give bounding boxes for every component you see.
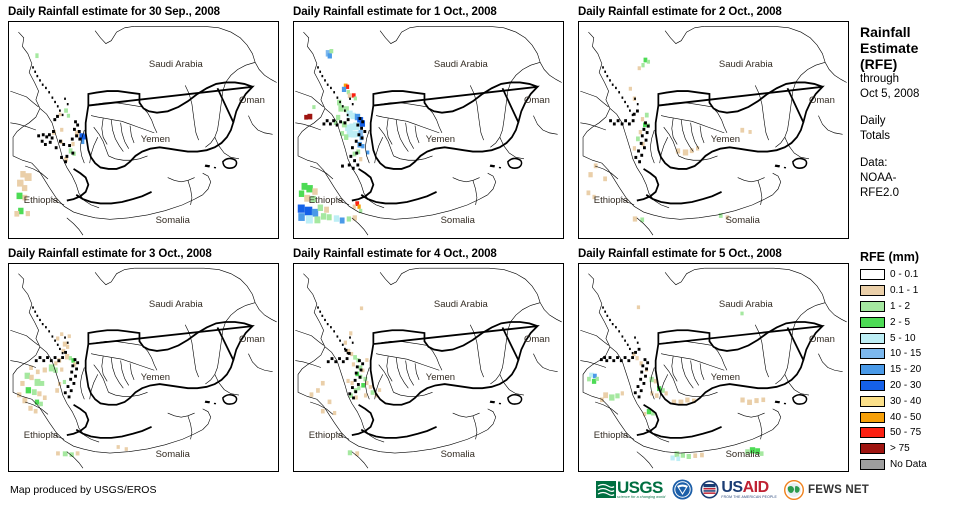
rainfall-cell (344, 341, 347, 345)
rainfall-cell (32, 389, 37, 395)
coastline-speckle (59, 109, 61, 111)
country-label-somalia: Somalia (441, 449, 475, 460)
boundary-line (111, 120, 123, 152)
national-border (502, 88, 518, 123)
coastline-speckle (629, 348, 631, 350)
rainfall-cell (655, 393, 659, 398)
boundary-line (679, 392, 718, 396)
rainfall-cell-dense (327, 360, 330, 363)
boundary-line (818, 354, 842, 372)
boundary-line (637, 218, 653, 235)
rainfall-cell (761, 398, 765, 403)
rainfall-cell (670, 455, 674, 460)
legend-swatch (860, 427, 885, 438)
boundary-line (453, 413, 480, 417)
usaid-tagline: FROM THE AMERICAN PEOPLE (721, 495, 777, 499)
info-column: Rainfall Estimate (RFE) through Oct 5, 2… (860, 24, 965, 201)
rainfall-cell-dense (351, 146, 354, 149)
rainfall-cell (334, 215, 339, 221)
country-label-yemen: Yemen (426, 134, 455, 145)
rainfall-cell (346, 379, 349, 383)
islet (775, 401, 780, 404)
islet (499, 403, 501, 405)
rainfall-cell (299, 190, 304, 196)
coastline-speckle (352, 342, 354, 344)
national-border (658, 82, 822, 112)
rainfall-cell (361, 383, 365, 388)
rainfall-cell (644, 58, 648, 63)
boundary-line (540, 303, 562, 322)
rainfall-cell (357, 386, 360, 390)
rainfall-cell-dense (357, 383, 360, 386)
legend-row: No Data (860, 457, 965, 473)
boundary-line (773, 173, 781, 195)
info-data-label: Data: (860, 156, 965, 171)
coastline-speckle (321, 315, 323, 317)
coastline-speckle (627, 105, 629, 107)
map-panel-title: Daily Rainfall estimate for 4 Oct., 2008 (293, 248, 564, 261)
legend-label: 20 - 30 (890, 380, 921, 391)
rainfall-cell (636, 136, 640, 141)
rainfall-cell-dense (358, 359, 361, 362)
rainfall-cell (588, 172, 592, 177)
rainfall-cell (747, 400, 752, 405)
rainfall-cell (596, 377, 599, 381)
legend: RFE (mm) 0 - 0.10.1 - 11 - 22 - 55 - 101… (860, 250, 965, 472)
coastline-speckle (42, 323, 44, 325)
coastline-speckle (39, 79, 41, 81)
boundary-line (67, 452, 83, 469)
map-canvas[interactable]: Saudi ArabiaOmanYemenEthiopiaSomalia (293, 263, 564, 472)
rainfall-cell-dense (76, 361, 79, 364)
boundary-line (134, 26, 255, 62)
logo-strip: USGS science for a changing world USAID … (596, 479, 869, 500)
boundary-line (488, 173, 496, 195)
coastline-speckle (342, 105, 344, 107)
coastline-speckle (36, 315, 38, 317)
coastline-speckle (627, 344, 629, 346)
rainfall-cell (43, 395, 47, 400)
rainfall-cell-dense (355, 140, 358, 143)
rainfall-cell-dense (323, 122, 326, 125)
rainfall-cell (64, 108, 68, 112)
coastline-speckle (622, 335, 624, 337)
socotra-island (508, 158, 522, 168)
coastline-speckle (606, 75, 608, 77)
legend-swatch (860, 285, 885, 296)
fews-globe-icon (784, 480, 804, 500)
country-label-ethiopia: Ethiopia (594, 430, 628, 441)
rainfall-cell-dense (76, 124, 79, 127)
coastline-speckle (57, 344, 59, 346)
country-label-oman: Oman (809, 95, 835, 106)
rainfall-cell (76, 451, 80, 455)
coastline-speckle (52, 97, 54, 99)
national-border (217, 88, 233, 123)
boundary-line (588, 32, 610, 108)
boundary-line (704, 26, 825, 62)
map-panel-title: Daily Rainfall estimate for 2 Oct., 2008 (578, 6, 849, 19)
rainfall-cell-dense (339, 120, 342, 123)
rainfall-cell (365, 358, 368, 362)
rainfall-cell-dense (65, 155, 68, 158)
rainfall-cell (740, 398, 744, 403)
boundary-line (90, 137, 98, 163)
rainfall-cell-dense (56, 115, 59, 118)
usaid-seal-icon (700, 480, 719, 499)
rainfall-cell (324, 207, 329, 213)
legend-label: 40 - 50 (890, 412, 921, 423)
map-canvas[interactable]: Saudi ArabiaOmanYemenEthiopiaSomalia (8, 21, 279, 239)
rainfall-cell-dense (646, 361, 649, 364)
boundary-line (10, 330, 38, 345)
rainfall-cell-dense (353, 159, 356, 162)
rainfall-cell-dense (634, 156, 637, 159)
rainfall-cell-dense (69, 378, 72, 381)
coastline-speckle (317, 66, 319, 68)
boundary-line (95, 268, 134, 285)
rainfall-cell (587, 377, 591, 382)
boundary-line (818, 116, 842, 135)
country-label-yemen: Yemen (711, 134, 740, 145)
rainfall-cell (20, 381, 24, 386)
rainfall-cell-dense (37, 134, 40, 137)
boundary-line (352, 452, 368, 469)
rainfall-cell (55, 388, 59, 393)
rainfall-cell (59, 113, 62, 116)
boundary-line (691, 123, 699, 149)
rainfall-cell (587, 190, 591, 195)
national-border (502, 327, 518, 360)
rainfall-cell (60, 128, 63, 132)
country-label-saudi-arabia: Saudi Arabia (719, 59, 773, 70)
country-label-saudi-arabia: Saudi Arabia (434, 299, 488, 310)
boundary-line (773, 409, 781, 430)
rainfall-cell (328, 53, 332, 58)
coastline-speckle (67, 342, 69, 344)
coastline-speckle (62, 114, 64, 116)
coastline-speckle (39, 319, 41, 321)
rainfall-cell-dense (361, 120, 364, 123)
rainfall-cell-dense (356, 124, 359, 127)
legend-row: 15 - 20 (860, 362, 965, 378)
country-label-ethiopia: Ethiopia (309, 430, 343, 441)
rainfall-cell-dense (632, 119, 635, 122)
boundary-line (95, 26, 134, 43)
national-border (76, 427, 151, 438)
rainfall-cell (333, 411, 336, 415)
map-panel-5: Daily Rainfall estimate for 4 Oct., 2008… (293, 248, 564, 472)
coastline-speckle (604, 71, 606, 73)
boundary-line (700, 363, 704, 380)
rainfall-cell (344, 134, 348, 140)
rainfall-cell (306, 215, 313, 223)
boundary-line (121, 123, 129, 149)
map-canvas[interactable]: Saudi ArabiaOmanYemenEthiopiaSomalia (578, 21, 849, 239)
boundary-line (130, 126, 134, 143)
boundary-line (168, 413, 195, 417)
boundary-line (18, 274, 40, 347)
rainfall-cell (29, 375, 33, 380)
coastline-speckle (36, 75, 38, 77)
rainfall-cell (633, 146, 636, 150)
rainfall-cell (17, 193, 23, 199)
country-label-saudi-arabia: Saudi Arabia (434, 59, 488, 70)
rainfall-cell (364, 393, 367, 397)
boundary-line (376, 116, 439, 133)
rainfall-cell (685, 398, 689, 403)
rainfall-cell-dense (54, 356, 57, 359)
map-canvas[interactable]: Saudi ArabiaOmanYemenEthiopiaSomalia (8, 263, 279, 472)
rainfall-cell (56, 451, 60, 455)
rainfall-cell (353, 355, 357, 360)
rainfall-cell-dense (73, 128, 76, 131)
rainfall-cell (346, 85, 349, 89)
country-label-somalia: Somalia (726, 449, 760, 460)
boundary-line (533, 354, 557, 372)
rainfall-cell-dense (72, 382, 75, 385)
rainfall-cell (26, 211, 30, 216)
national-border (217, 327, 233, 360)
boundary-line (375, 137, 383, 163)
usgs-tagline: science for a changing world (617, 495, 665, 499)
legend-label: 0.1 - 1 (890, 285, 918, 296)
rainfall-cell-dense (64, 351, 67, 354)
boundary-line (396, 120, 408, 152)
islet (784, 167, 786, 169)
rainfall-cell-dense (74, 375, 77, 378)
rainfall-cell (117, 445, 120, 449)
legend-label: No Data (890, 459, 927, 470)
boundary-line (255, 62, 277, 82)
rainfall-cell (349, 331, 352, 335)
coastline-speckle (609, 319, 611, 321)
rainfall-cell-dense (67, 385, 70, 388)
socotra-island (508, 395, 522, 404)
rainfall-cell (328, 400, 332, 405)
rainfall-cell (26, 387, 31, 393)
rainfall-cell-dense (640, 154, 643, 157)
rainfall-cell-dense (331, 357, 334, 360)
legend-row: 10 - 15 (860, 346, 965, 362)
boundary-line (215, 374, 239, 395)
coastline-speckle (330, 326, 332, 328)
national-border (787, 327, 803, 360)
map-panel-4: Daily Rainfall estimate for 3 Oct., 2008… (8, 248, 279, 472)
islet (214, 167, 216, 169)
rainfall-cell-dense (646, 131, 649, 134)
rainfall-cell (641, 63, 644, 67)
rainfall-cell (342, 87, 346, 92)
info-daily: Daily (860, 114, 965, 129)
socotra-island (223, 158, 237, 168)
legend-label: 50 - 75 (890, 427, 921, 438)
rainfall-cell-dense (332, 119, 335, 122)
rainfall-cell-dense (359, 376, 362, 379)
coastline-speckle (54, 101, 56, 103)
coastline-speckle (327, 84, 329, 86)
legend-row: 1 - 2 (860, 299, 965, 315)
usgs-logo: USGS science for a changing world (596, 480, 665, 500)
boundary-line (406, 123, 414, 149)
boundary-line (121, 361, 129, 386)
rainfall-cell (357, 205, 360, 209)
rainfall-cell (306, 185, 312, 192)
rainfall-cell (37, 391, 41, 396)
boundary-line (785, 137, 809, 159)
rainfall-cell-dense (59, 140, 62, 143)
rainfall-cell-dense (642, 128, 645, 131)
usgs-wordmark: USGS (617, 480, 665, 495)
rainfall-cell-dense (605, 359, 608, 362)
boundary-line (738, 178, 765, 182)
map-canvas[interactable]: Saudi ArabiaOmanYemenEthiopiaSomalia (293, 21, 564, 239)
rainfall-cell (347, 216, 351, 221)
noaa-seal-icon (672, 479, 693, 500)
rainfall-cell-dense (356, 163, 359, 166)
coastline-speckle (337, 97, 339, 99)
rainfall-cell-dense (642, 382, 645, 385)
rainfall-cell (25, 373, 30, 379)
islet (205, 401, 210, 404)
coastline-speckle (337, 335, 339, 337)
rainfall-cell-dense (638, 160, 641, 163)
coastline-speckle (344, 348, 346, 350)
coastline-speckle (342, 344, 344, 346)
rainfall-cell-dense (627, 359, 630, 362)
legend-row: 0 - 0.1 (860, 267, 965, 283)
boundary-line (394, 156, 433, 160)
coastline-speckle (606, 315, 608, 317)
rainfall-cell-dense (338, 357, 341, 360)
rainfall-cell-dense (647, 125, 650, 128)
rainfall-cell-dense (613, 122, 616, 125)
map-panel-3: Daily Rainfall estimate for 2 Oct., 2008… (578, 6, 849, 239)
rainfall-cell-dense (62, 143, 65, 146)
coastline-speckle (347, 114, 349, 116)
rainfall-cell (327, 214, 332, 220)
rainfall-cell (674, 451, 679, 457)
map-canvas[interactable]: Saudi ArabiaOmanYemenEthiopiaSomalia (578, 263, 849, 472)
legend-row: > 75 (860, 441, 965, 457)
national-border (646, 192, 721, 204)
rainfall-cell-dense (639, 378, 642, 381)
coastline-speckle (349, 98, 351, 100)
legend-label: 2 - 5 (890, 317, 910, 328)
boundary-line (775, 91, 792, 147)
coastline-speckle (45, 326, 47, 328)
boundary-line (661, 116, 724, 133)
rainfall-cell (609, 394, 614, 400)
rainfall-cell-dense (348, 392, 351, 395)
rainfall-cell (621, 391, 624, 395)
info-title-line3: (RFE) (860, 56, 965, 72)
rainfall-cell-dense (634, 391, 637, 394)
rainfall-cell-dense (346, 357, 349, 360)
rainfall-cell-dense (640, 142, 643, 145)
legend-label: 5 - 10 (890, 333, 916, 344)
boundary-line (500, 137, 524, 159)
rainfall-cell-dense (53, 118, 56, 121)
coastline-speckle (32, 66, 34, 68)
rainfall-cell-dense (42, 359, 45, 362)
boundary-line (825, 303, 847, 322)
legend-label: 0 - 0.1 (890, 269, 918, 280)
info-through-date: Oct 5, 2008 (860, 87, 965, 102)
info-data-source1: NOAA- (860, 171, 965, 186)
usgs-mark-icon (596, 480, 616, 500)
islet (490, 401, 495, 404)
rainfall-cell-dense (359, 117, 362, 120)
boundary-line (295, 91, 323, 107)
rainfall-cell-dense (64, 391, 67, 394)
map-panel-1: Daily Rainfall estimate for 30 Sep., 200… (8, 6, 279, 239)
rainfall-cell (28, 406, 32, 411)
rainfall-cell-dense (78, 130, 81, 133)
legend-swatch (860, 364, 885, 375)
rainfall-cell-dense (636, 109, 639, 112)
national-border (88, 82, 252, 112)
coastline-speckle (48, 330, 50, 332)
coastline-speckle (62, 352, 64, 354)
country-label-saudi-arabia: Saudi Arabia (149, 59, 203, 70)
coastline-speckle (339, 340, 341, 342)
boundary-line (90, 374, 98, 399)
boundary-line (415, 126, 419, 143)
rainfall-cell (35, 400, 39, 405)
rainfall-cell-dense (359, 143, 362, 146)
rainfall-cell (71, 142, 74, 146)
country-label-oman: Oman (809, 334, 835, 345)
coastline-speckle (324, 79, 326, 81)
coastline-speckle (344, 109, 346, 111)
coastline-speckle (48, 91, 50, 93)
boundary-line (215, 137, 239, 159)
info-title-line2: Estimate (860, 40, 965, 56)
socotra-island (223, 395, 237, 404)
coastline-speckle (352, 103, 354, 105)
rainfall-cell (645, 113, 649, 118)
rainfall-cell-dense (609, 356, 612, 359)
rainfall-cell-dense (360, 369, 363, 372)
rainfall-cell (638, 66, 641, 70)
boundary-line (533, 116, 557, 135)
coastline-speckle (67, 103, 69, 105)
legend-swatch (860, 412, 885, 423)
rainfall-cell-dense (634, 351, 637, 354)
legend-label: 15 - 20 (890, 364, 921, 375)
rainfall-cell (603, 392, 608, 398)
usaid-logo: USAID FROM THE AMERICAN PEOPLE (700, 480, 777, 499)
rainfall-cell-dense (326, 119, 329, 122)
coastline-speckle (339, 101, 341, 103)
map-panel-title: Daily Rainfall estimate for 3 Oct., 2008 (8, 248, 279, 261)
country-label-yemen: Yemen (141, 134, 170, 145)
rainfall-cell-dense (78, 138, 81, 141)
country-label-oman: Oman (239, 334, 265, 345)
legend-row: 2 - 5 (860, 314, 965, 330)
rainfall-cell (314, 216, 320, 223)
boundary-line (248, 354, 272, 372)
legend-row: 5 - 10 (860, 330, 965, 346)
rainfall-cell (361, 144, 364, 148)
boundary-line (825, 62, 847, 82)
coastline-speckle (637, 342, 639, 344)
coastline-speckle (333, 330, 335, 332)
rainfall-cell (615, 393, 619, 398)
national-border (373, 322, 537, 351)
rainfall-cell (348, 93, 352, 98)
